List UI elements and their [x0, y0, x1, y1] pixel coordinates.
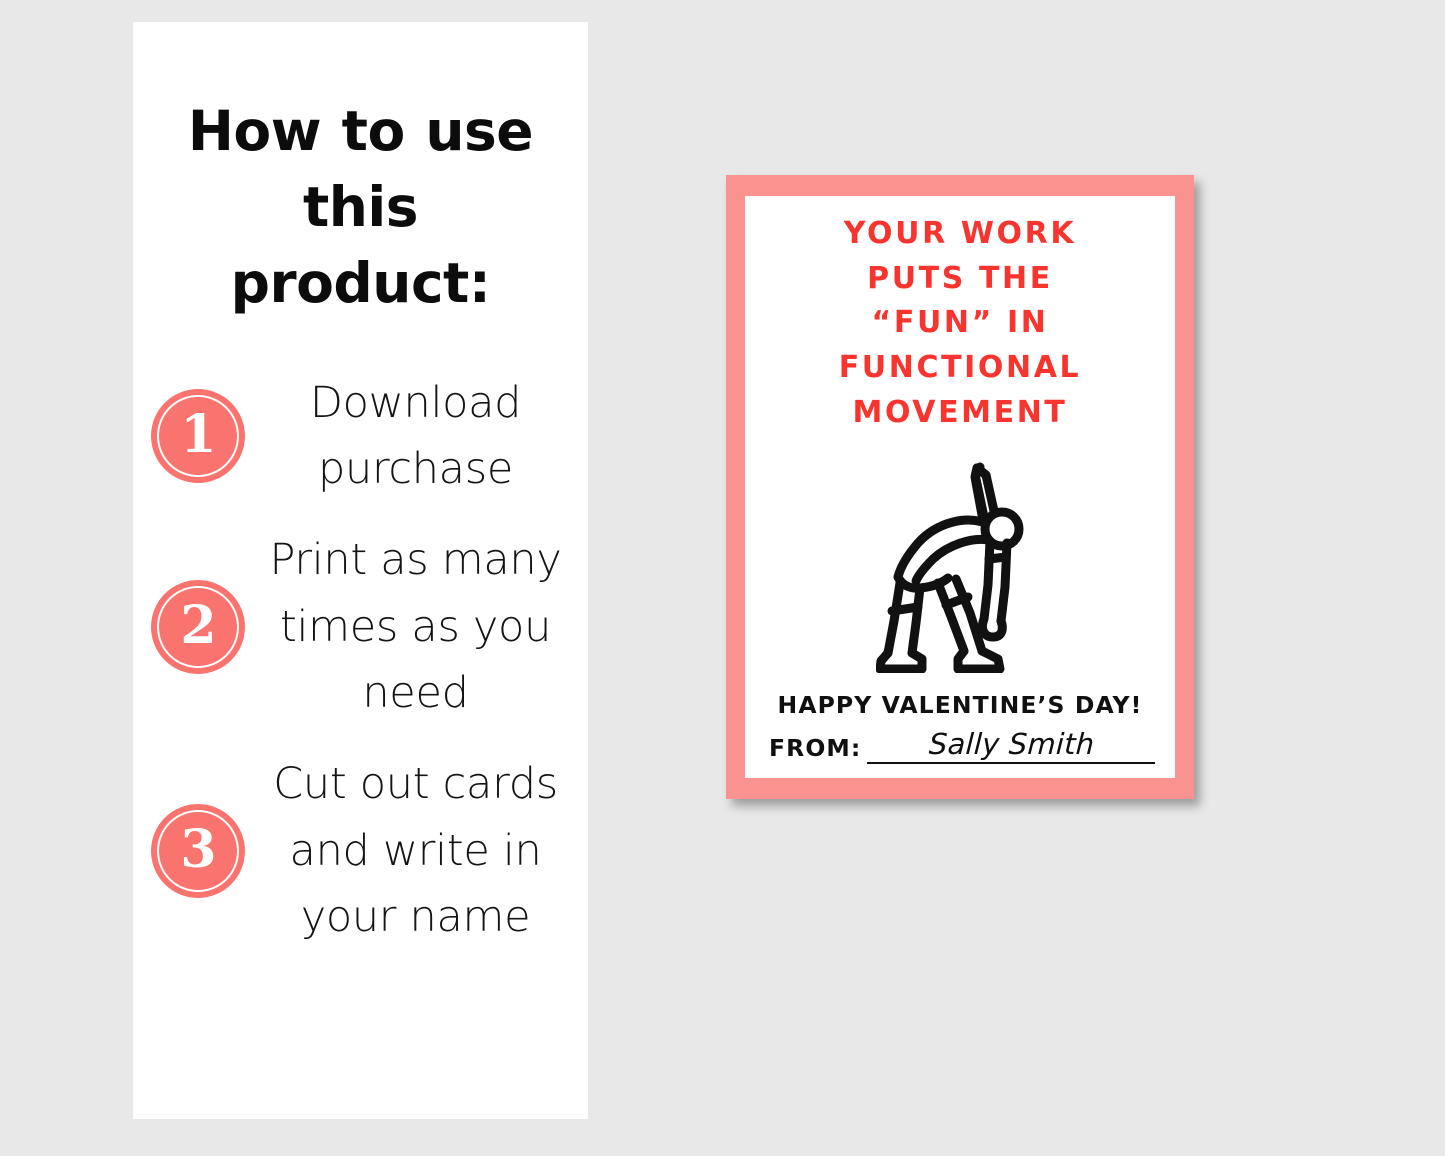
card-greeting: HAPPY VALENTINE’S DAY! — [761, 693, 1159, 719]
step-number-badge-2: 2 — [151, 580, 245, 674]
step-number-label: 3 — [180, 824, 215, 876]
card-headline-line-3: “FUN” IN — [761, 301, 1159, 346]
card-footer: HAPPY VALENTINE’S DAY! FROM: Sally Smith — [759, 693, 1161, 764]
list-item: 2 Print as many times as you need — [133, 527, 588, 727]
card-from-row: FROM: Sally Smith — [761, 728, 1159, 764]
steps-list: 1 Download purchase 2 Print as many time… — [133, 370, 588, 951]
card-from-label: FROM: — [769, 737, 861, 765]
page-title: How to use this product: — [133, 22, 588, 322]
list-item: 3 Cut out cards and write in your name — [133, 751, 588, 951]
card-inner-area: YOUR WORK PUTS THE “FUN” IN FUNCTIONAL M… — [745, 196, 1175, 778]
card-signature-line[interactable]: Sally Smith — [867, 728, 1155, 764]
step-description: Print as many times as you need — [255, 527, 576, 727]
card-signature-value: Sally Smith — [928, 728, 1095, 761]
step-number-badge-3: 3 — [151, 804, 245, 898]
step-description: Download purchase — [255, 370, 576, 503]
card-headline-line-5: MOVEMENT — [761, 391, 1159, 436]
step-number-badge-1: 1 — [151, 389, 245, 483]
card-headline: YOUR WORK PUTS THE “FUN” IN FUNCTIONAL M… — [759, 212, 1161, 435]
stretching-person-icon — [876, 461, 1044, 673]
card-headline-line-2: PUTS THE — [761, 257, 1159, 302]
instructions-panel: How to use this product: 1 Download purc… — [133, 22, 588, 1119]
card-headline-line-1: YOUR WORK — [761, 212, 1159, 257]
valentine-card-preview: YOUR WORK PUTS THE “FUN” IN FUNCTIONAL M… — [726, 175, 1194, 799]
list-item: 1 Download purchase — [133, 370, 588, 503]
step-number-label: 1 — [180, 409, 215, 461]
card-headline-line-4: FUNCTIONAL — [761, 346, 1159, 391]
step-number-label: 2 — [180, 600, 215, 652]
card-illustration — [759, 435, 1161, 692]
step-description: Cut out cards and write in your name — [255, 751, 576, 951]
